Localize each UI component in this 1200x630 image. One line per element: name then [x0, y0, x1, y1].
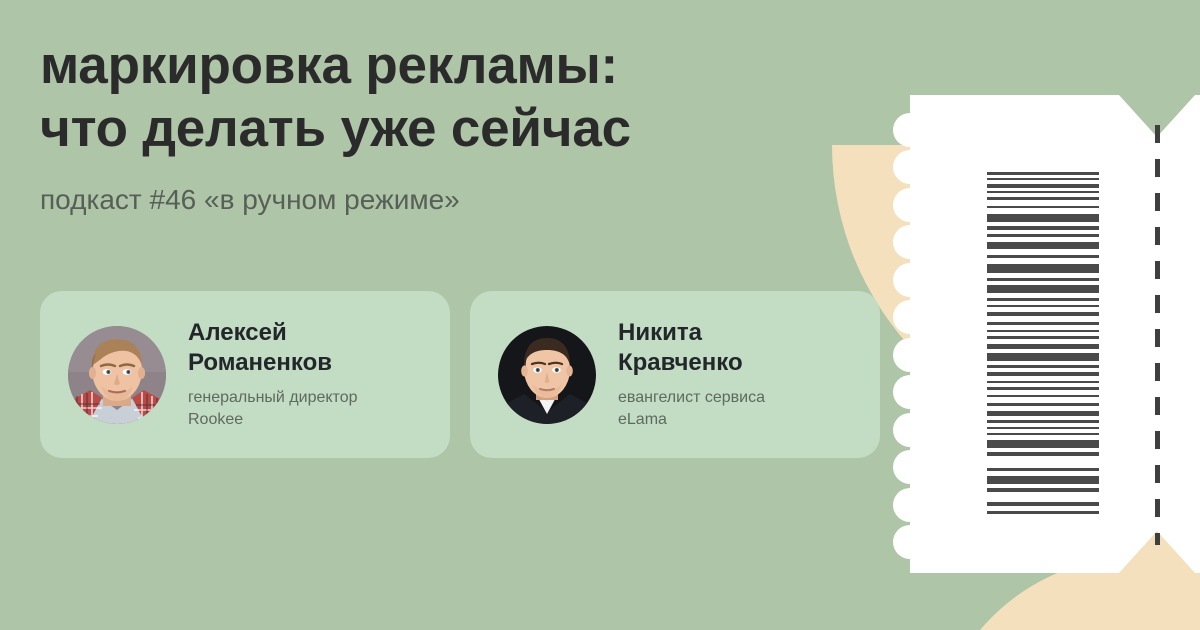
barcode-bar	[987, 344, 1099, 349]
page-title: маркировка рекламы: что делать уже сейча…	[40, 34, 840, 160]
barcode-bar	[987, 511, 1099, 514]
barcode-bar	[987, 184, 1099, 188]
barcode-bar	[987, 191, 1099, 193]
barcode-bar	[987, 395, 1099, 397]
ticket-scallop	[893, 488, 927, 522]
barcode-bar	[987, 502, 1099, 506]
barcode-bar	[987, 226, 1099, 230]
ticket-scallop	[893, 338, 927, 372]
page-subtitle: подкаст #46 «в ручном режиме»	[40, 182, 840, 217]
barcode-bar	[987, 433, 1099, 435]
avatar	[498, 326, 596, 424]
headline-block: маркировка рекламы: что делать уже сейча…	[40, 34, 840, 217]
barcode-bar	[987, 452, 1099, 456]
barcode-bar	[987, 440, 1099, 448]
barcode-bar	[987, 285, 1099, 293]
barcode-bar	[987, 197, 1099, 200]
barcode-bar	[987, 172, 1099, 175]
barcode-bar	[987, 476, 1099, 484]
barcode-bar	[987, 488, 1099, 492]
barcode-bar	[987, 387, 1099, 390]
ticket-scallop	[893, 150, 927, 184]
poster-canvas: маркировка рекламы: что делать уже сейча…	[0, 0, 1200, 630]
avatar-image-aleksey	[68, 326, 166, 424]
ticket-barcode	[987, 172, 1099, 520]
speaker-card-1[interactable]: Алексей Романенков генеральный директор …	[40, 291, 450, 458]
barcode-bar	[987, 178, 1099, 180]
speaker-info: Алексей Романенков генеральный директор …	[188, 318, 358, 430]
barcode-bar	[987, 206, 1099, 208]
barcode-bar	[987, 381, 1099, 383]
ticket-scallop	[893, 300, 927, 334]
speaker-name: Никита Кравченко	[618, 318, 765, 378]
barcode-bar	[987, 353, 1099, 361]
ticket-scallop	[893, 413, 927, 447]
avatar	[68, 326, 166, 424]
speaker-card-2[interactable]: Никита Кравченко евангелист сервиса eLam…	[470, 291, 880, 458]
speaker-role: евангелист сервиса eLama	[618, 387, 765, 430]
barcode-bar	[987, 427, 1099, 429]
avatar-image-nikita	[498, 326, 596, 424]
ticket-perforation-line	[1155, 125, 1160, 545]
ticket-scallop	[893, 450, 927, 484]
barcode-bar	[987, 336, 1099, 339]
barcode-bar	[987, 403, 1099, 406]
barcode-bar	[987, 234, 1099, 237]
barcode-bar	[987, 214, 1099, 222]
ticket-scalloped-edge	[893, 113, 927, 559]
barcode-bar	[987, 312, 1099, 316]
barcode-bar	[987, 411, 1099, 416]
barcode-bar	[987, 278, 1099, 281]
barcode-bar	[987, 365, 1099, 368]
speaker-role: генеральный директор Rookee	[188, 387, 358, 430]
barcode-bar	[987, 468, 1099, 471]
barcode-bar	[987, 298, 1099, 301]
ticket-scallop	[893, 225, 927, 259]
barcode-bar	[987, 264, 1099, 273]
speaker-name: Алексей Романенков	[188, 318, 358, 378]
barcode-bar	[987, 255, 1099, 258]
ticket-scallop	[893, 188, 927, 222]
ticket-scallop	[893, 263, 927, 297]
barcode-bar	[987, 330, 1099, 332]
ticket-illustration	[893, 95, 1200, 573]
ticket-scallop	[893, 113, 927, 147]
speaker-info: Никита Кравченко евангелист сервиса eLam…	[618, 318, 765, 430]
ticket-body	[910, 95, 1200, 573]
speaker-card-list: Алексей Романенков генеральный директор …	[40, 291, 880, 458]
barcode-bar	[987, 305, 1099, 307]
barcode-bar	[987, 372, 1099, 376]
ticket-scallop	[893, 375, 927, 409]
barcode-bar	[987, 420, 1099, 423]
barcode-bar	[987, 322, 1099, 325]
barcode-bar	[987, 242, 1099, 249]
ticket-scallop	[893, 525, 927, 559]
